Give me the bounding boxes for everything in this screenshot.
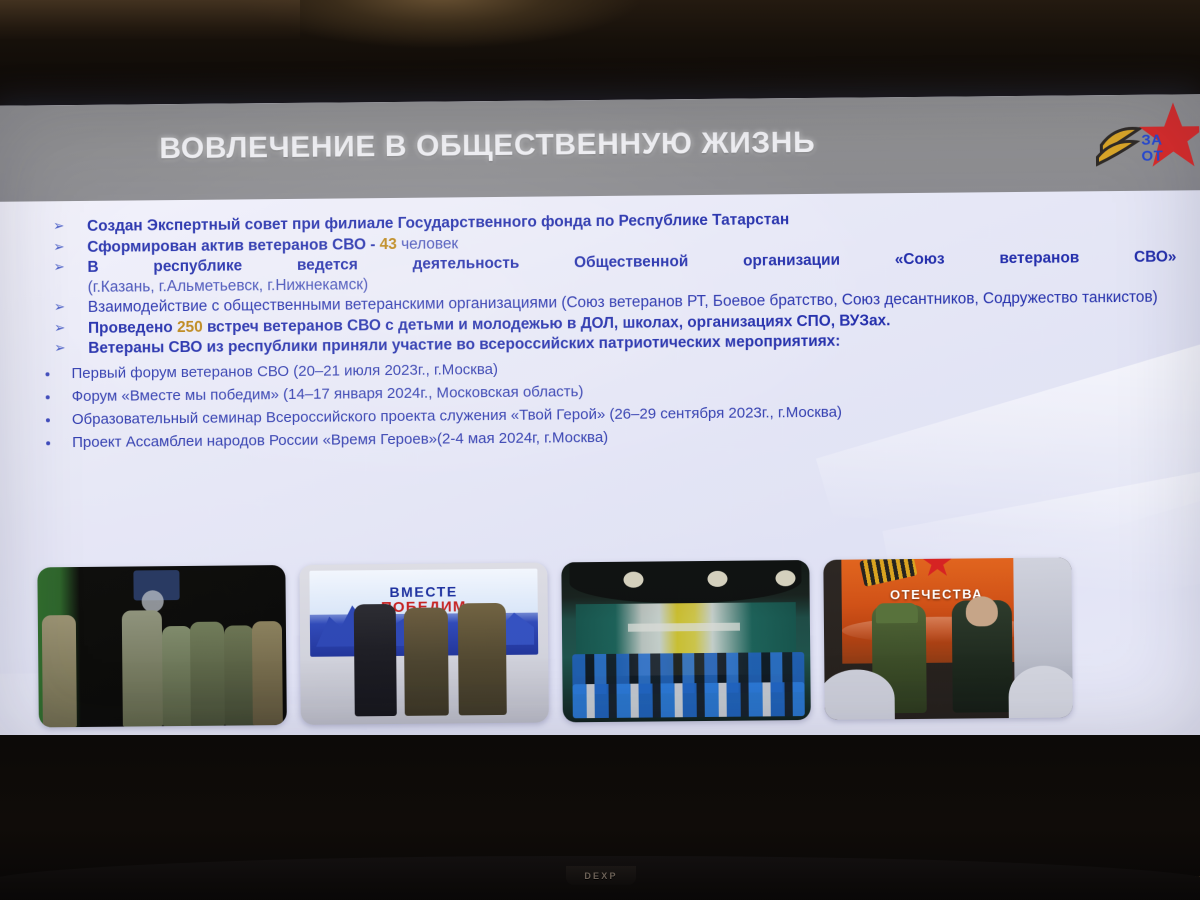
photo-strip: ВМЕСТЕ ПОБЕДИМ	[37, 557, 1159, 734]
star-icon: ★	[919, 557, 955, 582]
soldier-figures	[38, 607, 287, 727]
logo-text-line2: ОТ	[1141, 149, 1163, 165]
veteran-face	[966, 596, 998, 626]
foundation-logo: ЗА ОТ	[1095, 100, 1200, 187]
photo-soldiers-on-stage	[37, 565, 287, 727]
soldier	[122, 610, 163, 726]
ceiling-light-spill	[0, 0, 300, 40]
bullet-text-2-pre: Сформирован актив ветеранов СВО -	[87, 236, 380, 256]
projected-slide: ВОВЛЕЧЕНИЕ В ОБЩЕСТВЕННУЮ ЖИЗНЬ ЗА ОТ	[0, 94, 1200, 754]
room-scene: ВОВЛЕЧЕНИЕ В ОБЩЕСТВЕННУЮ ЖИЗНЬ ЗА ОТ	[0, 0, 1200, 900]
photo-otechestva: ★ ОТЕЧЕСТВА	[823, 557, 1073, 719]
soldier	[162, 626, 193, 726]
highlight-count-43: 43	[380, 235, 397, 252]
soldier	[224, 625, 255, 725]
person-suit	[354, 604, 397, 716]
soldier	[190, 622, 225, 726]
highlight-count-250: 250	[177, 318, 203, 335]
logo-text-line1: ЗА	[1141, 133, 1163, 149]
display-brand-notch: DEXP	[566, 866, 636, 885]
photo-vmeste-pobedim: ВМЕСТЕ ПОБЕДИМ	[299, 563, 549, 725]
stage-arch	[569, 560, 801, 604]
display-brand-label: DEXP	[584, 871, 617, 881]
bullet-text-2-post: человек	[397, 235, 459, 253]
veteran-cap	[876, 603, 918, 623]
arrow-bullet-list: Создан Экспертный совет при филиале Госу…	[0, 190, 1200, 359]
soldier	[252, 621, 283, 725]
stage-lamp	[707, 571, 727, 587]
slide-title: ВОВЛЕЧЕНИЕ В ОБЩЕСТВЕННУЮ ЖИЗНЬ	[159, 126, 815, 166]
stage-lamp	[775, 570, 795, 586]
logo-text: ЗА ОТ	[1141, 133, 1163, 165]
bullet-text-5-pre: Проведено	[88, 319, 177, 337]
person-camo-2	[458, 603, 507, 715]
person-camo-1	[404, 607, 449, 715]
dot-bullet-list: Первый форум ветеранов СВО (20–21 июля 2…	[0, 349, 1200, 454]
front-row-people	[572, 682, 804, 718]
stage-lamp	[623, 572, 643, 588]
photo-school-group	[561, 560, 811, 722]
slide-body: ВОВЛЕЧЕНИЕ В ОБЩЕСТВЕННУЮ ЖИЗНЬ ЗА ОТ	[0, 94, 1200, 754]
stage-light-bar	[628, 623, 740, 632]
soldier	[42, 615, 77, 727]
